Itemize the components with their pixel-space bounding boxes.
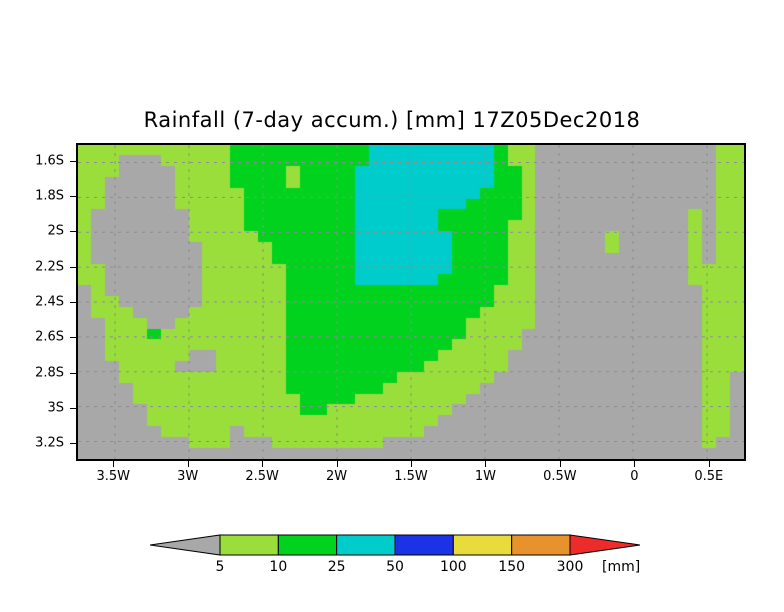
y-tick-label: 2.8S [35, 365, 64, 380]
colorbar-tick-label: 300 [557, 559, 584, 575]
x-tick-label: 0 [630, 469, 638, 484]
colorbar-swatches [150, 533, 640, 557]
x-tick-mark [411, 461, 412, 467]
x-tick-mark [560, 461, 561, 467]
colorbar-under-arrow [150, 535, 220, 555]
y-tick-label: 1.6S [35, 153, 64, 168]
colorbar-tick-label: 10 [269, 559, 287, 575]
colorbar-tick-label: 100 [440, 559, 467, 575]
colorbar-bin [512, 535, 570, 555]
x-tick-label: 1.5W [394, 469, 428, 484]
x-tick-label: 1W [475, 469, 496, 484]
y-tick-label: 2.4S [35, 295, 64, 310]
y-tick-label: 2.2S [35, 259, 64, 274]
colorbar-bin [395, 535, 453, 555]
y-tick-mark [70, 161, 76, 162]
colorbar-bin [278, 535, 336, 555]
plot-area [76, 143, 746, 461]
x-tick-mark [709, 461, 710, 467]
colorbar-bin [220, 535, 278, 555]
colorbar-tick-label: 150 [498, 559, 525, 575]
colorbar-units-label: [mm] [602, 559, 640, 575]
colorbar: 5102550100150300 [mm] [150, 533, 640, 579]
y-tick-mark [70, 302, 76, 303]
x-tick-mark [188, 461, 189, 467]
y-tick-label: 2.6S [35, 330, 64, 345]
colorbar-tick-label: 50 [386, 559, 404, 575]
x-tick-label: 2.5W [245, 469, 279, 484]
y-tick-label: 2S [47, 224, 64, 239]
x-tick-mark [262, 461, 263, 467]
colorbar-tick-label: 25 [328, 559, 346, 575]
y-tick-mark [70, 373, 76, 374]
rainfall-heatmap [78, 145, 744, 459]
y-tick-mark [70, 267, 76, 268]
colorbar-bin [453, 535, 511, 555]
y-tick-mark [70, 337, 76, 338]
y-tick-mark [70, 231, 76, 232]
y-tick-label: 3S [47, 401, 64, 416]
x-tick-mark [337, 461, 338, 467]
chart-title: Rainfall (7-day accum.) [mm] 17Z05Dec201… [0, 108, 784, 132]
colorbar-tick-label: 5 [216, 559, 225, 575]
y-axis-labels: 1.6S1.8S2S2.2S2.4S2.6S2.8S3S3.2S [0, 143, 68, 461]
y-tick-label: 1.8S [35, 189, 64, 204]
x-axis-labels: 3.5W3W2.5W2W1.5W1W0.5W00.5E [76, 463, 746, 491]
y-tick-mark [70, 443, 76, 444]
y-tick-mark [70, 196, 76, 197]
colorbar-bin [337, 535, 395, 555]
x-tick-mark [485, 461, 486, 467]
x-tick-label: 3W [177, 469, 198, 484]
x-tick-label: 3.5W [96, 469, 130, 484]
colorbar-over-arrow [570, 535, 640, 555]
figure-canvas: Rainfall (7-day accum.) [mm] 17Z05Dec201… [0, 0, 784, 612]
y-tick-mark [70, 408, 76, 409]
x-tick-label: 2W [326, 469, 347, 484]
x-tick-mark [113, 461, 114, 467]
x-tick-label: 0.5W [543, 469, 577, 484]
x-tick-mark [634, 461, 635, 467]
y-tick-label: 3.2S [35, 436, 64, 451]
x-tick-label: 0.5E [694, 469, 723, 484]
